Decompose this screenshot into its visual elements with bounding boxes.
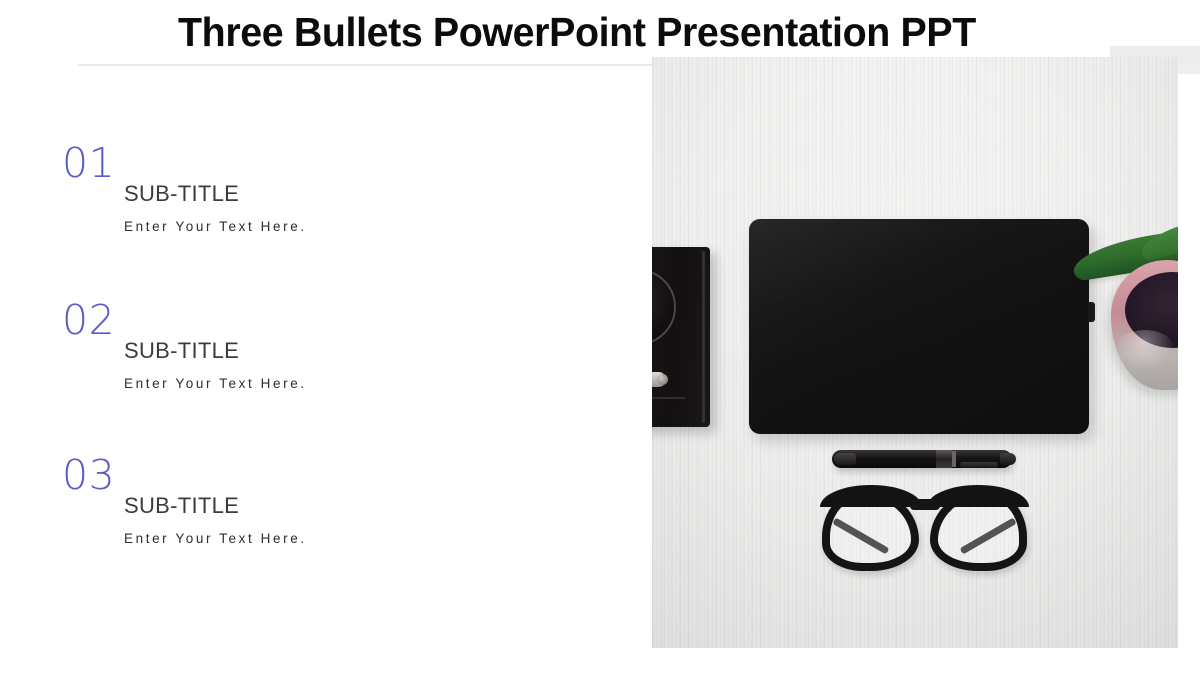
pen-clip [960, 462, 998, 468]
bullet-body-2: SUB-TITLE Enter Your Text Here. [124, 337, 582, 391]
tablet-icon [749, 219, 1089, 434]
page-title: Three Bullets PowerPoint Presentation PP… [178, 9, 976, 56]
glasses-bridge [910, 499, 940, 510]
bullet-list: 01 SUB-TITLE Enter Your Text Here. 02 SU… [0, 0, 640, 675]
pen-band-secondary [952, 451, 956, 467]
pen-band [936, 450, 952, 468]
bullet-subtitle-2: SUB-TITLE [124, 337, 582, 365]
bullet-text-1: Enter Your Text Here. [124, 219, 582, 234]
bullet-item-1[interactable]: 01 SUB-TITLE Enter Your Text Here. [62, 143, 582, 234]
bullet-number-1: 01 [62, 143, 582, 184]
bullet-text-3: Enter Your Text Here. [124, 531, 582, 546]
bullet-subtitle-3: SUB-TITLE [124, 492, 582, 520]
bullet-number-2: 02 [62, 300, 582, 341]
camera-edge [702, 251, 705, 423]
bullet-body-3: SUB-TITLE Enter Your Text Here. [124, 492, 582, 546]
bullet-number-3: 03 [62, 455, 582, 496]
slide-photo: MAX [652, 57, 1178, 648]
eyeglasses-icon [822, 477, 1027, 582]
pen-tip [1000, 453, 1016, 465]
tablet-screen-sheen [749, 219, 1089, 434]
camera-lens-icon: MAX [652, 269, 676, 345]
camera-seam [652, 397, 685, 399]
bullet-body-1: SUB-TITLE Enter Your Text Here. [124, 180, 582, 234]
pot-rim-highlight [1115, 330, 1175, 370]
vintage-camera-icon: MAX [652, 247, 710, 427]
bullet-item-2[interactable]: 02 SUB-TITLE Enter Your Text Here. [62, 300, 582, 391]
glasses-brow-right [927, 485, 1029, 507]
pen-cap [834, 453, 856, 465]
camera-knob-dot [657, 374, 668, 385]
bullet-item-3[interactable]: 03 SUB-TITLE Enter Your Text Here. [62, 455, 582, 546]
presentation-slide: Three Bullets PowerPoint Presentation PP… [0, 0, 1200, 675]
bullet-subtitle-1: SUB-TITLE [124, 180, 582, 208]
glasses-brow-left [820, 485, 922, 507]
bullet-text-2: Enter Your Text Here. [124, 376, 582, 391]
tablet-side-button [1088, 302, 1095, 322]
